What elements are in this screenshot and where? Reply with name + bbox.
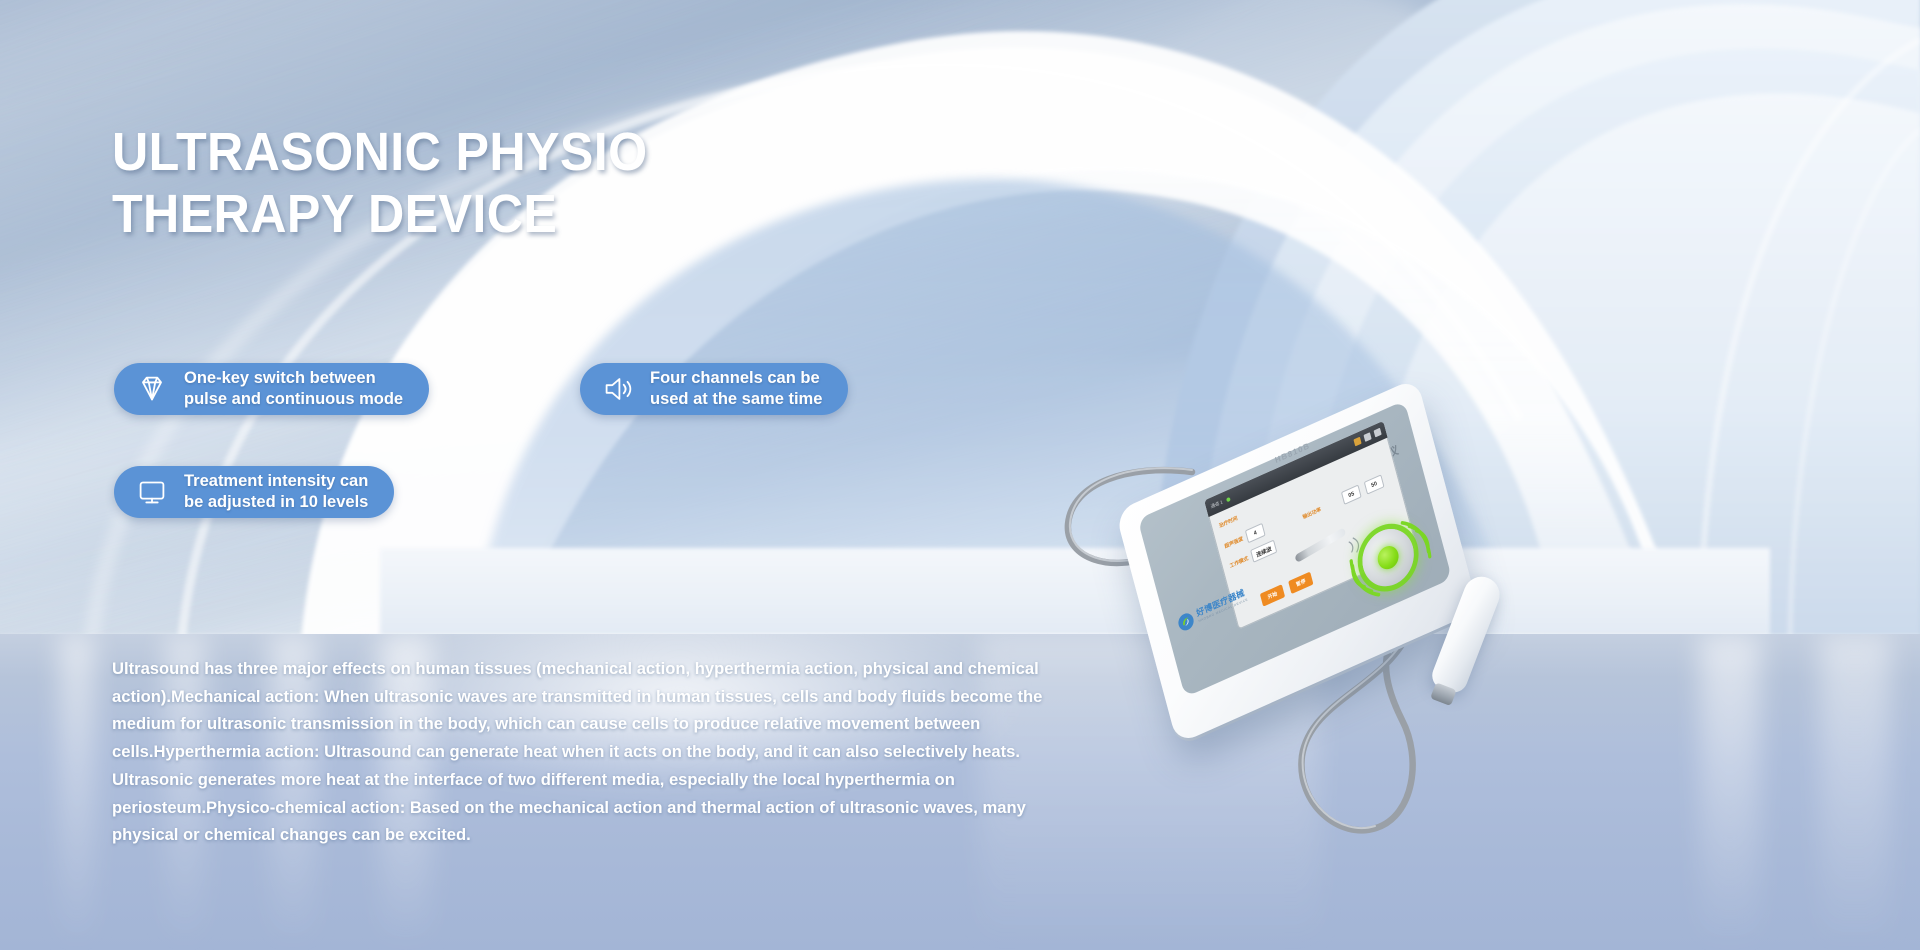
headline-line-2: THERAPY DEVICE [112,184,875,246]
speaker-icon [598,370,638,408]
screen-row-label: 超声强度 [1224,535,1244,550]
floor-reflection-streak [1820,634,1890,950]
floor-reflection-streak [1700,634,1760,950]
screen-row[interactable]: 治疗时间 [1218,515,1238,530]
description-paragraph: Ultrasound has three major effects on hu… [112,655,1047,849]
floor-reflection-streak [60,634,94,950]
headline-line-1: ULTRASONIC PHYSIO [112,122,648,182]
screen-start-button[interactable]: 开始 [1260,584,1285,606]
brand-mark-icon [1176,610,1196,634]
diamond-icon [132,370,172,408]
promo-banner: ULTRASONIC PHYSIO THERAPY DEVICE One-key… [0,0,1920,950]
status-dot-icon [1226,496,1231,502]
screen-icon [1374,428,1382,438]
screen-row-label: 工作模式 [1229,555,1249,570]
screen-row-label: 治疗时间 [1218,515,1238,530]
screen-row-label: 输出功率 [1302,506,1322,521]
screen-icon [1363,432,1371,442]
screen-value-readout[interactable]: 50 [1364,474,1385,494]
brand-logo: 好博医疗器械 HAOBRO MEDICAL DEVICE [1174,577,1254,642]
feature-badge-four-channels[interactable]: Four channels can be used at the same ti… [580,363,848,415]
screen-channel-label: 通道 1 [1210,499,1223,510]
product-device: HB810B 超声波治疗仪 通道 1 治疗时间 [1080,400,1640,820]
screen-value-group[interactable]: 05 50 [1341,474,1385,505]
screen-button-group[interactable]: 开始 暂停 [1260,572,1314,607]
monitor-icon [132,473,172,511]
feature-badge-label: Four channels can be used at the same ti… [650,368,822,410]
power-knob-indicator [1375,542,1401,572]
device-unit: HB810B 超声波治疗仪 通道 1 治疗时间 [1115,378,1479,745]
screen-value-readout[interactable]: 05 [1341,484,1362,504]
feature-badge-one-key-switch[interactable]: One-key switch between pulse and continu… [114,363,429,415]
screen-row-value[interactable]: 连续波 [1250,540,1277,563]
screen-row[interactable]: 输出功率 [1302,506,1322,521]
screen-pause-button[interactable]: 暂停 [1288,572,1313,594]
feature-badge-label: One-key switch between pulse and continu… [184,368,403,410]
feature-badge-label: Treatment intensity can be adjusted in 1… [184,471,368,513]
page-title: ULTRASONIC PHYSIO THERAPY DEVICE [112,122,875,245]
screen-row-value[interactable]: 4 [1245,523,1266,543]
feature-badge-treatment-intensity[interactable]: Treatment intensity can be adjusted in 1… [114,466,394,518]
screen-icon [1353,437,1361,447]
